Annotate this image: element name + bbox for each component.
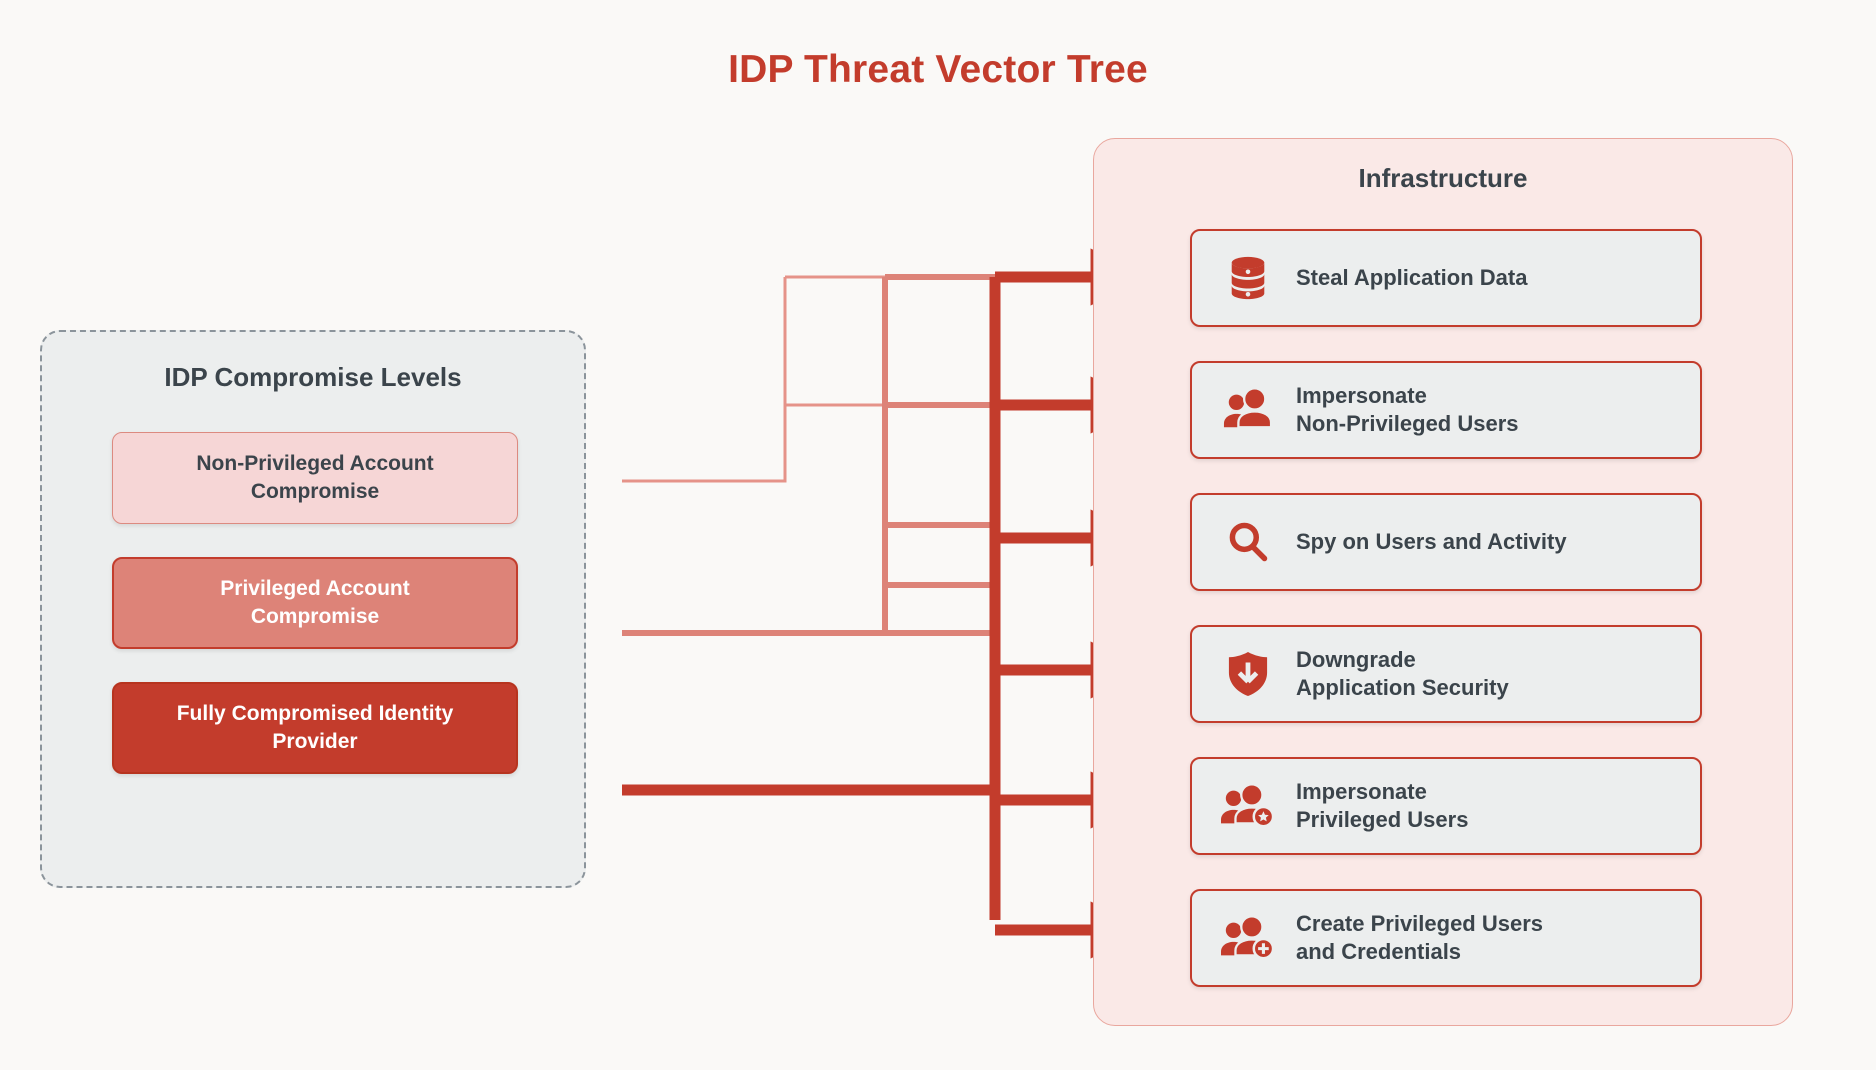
threat-card-steal-application-data[interactable]: Steal Application Data (1190, 229, 1702, 327)
level-card-label: Non-Privileged Account Compromise (196, 450, 433, 505)
idp-compromise-levels-panel: IDP Compromise Levels Non-Privileged Acc… (40, 330, 586, 888)
infrastructure-panel-title: Infrastructure (1094, 163, 1792, 194)
level-card-privileged-account-compromise[interactable]: Privileged Account Compromise (112, 557, 518, 649)
users-icon (1216, 378, 1280, 442)
threat-card-label: Spy on Users and Activity (1296, 528, 1567, 556)
threat-card-downgrade-application-security[interactable]: Downgrade Application Security (1190, 625, 1702, 723)
connector-privileged (622, 277, 995, 633)
shield-down-arrow-icon (1216, 642, 1280, 706)
threat-card-impersonate-privileged-users[interactable]: Impersonate Privileged Users (1190, 757, 1702, 855)
users-star-badge-icon (1216, 774, 1280, 838)
threat-card-label: Impersonate Privileged Users (1296, 778, 1468, 834)
level-card-fully-compromised-identity-provider[interactable]: Fully Compromised Identity Provider (112, 682, 518, 774)
threat-card-label: Create Privileged Users and Credentials (1296, 910, 1543, 966)
threat-card-label: Impersonate Non-Privileged Users (1296, 382, 1519, 438)
threat-card-impersonate-non-privileged-users[interactable]: Impersonate Non-Privileged Users (1190, 361, 1702, 459)
level-card-label: Fully Compromised Identity Provider (177, 700, 454, 755)
levels-panel-title: IDP Compromise Levels (42, 362, 584, 393)
level-card-label: Privileged Account Compromise (220, 575, 409, 630)
connector-fully-compromised (622, 277, 995, 920)
threat-card-label: Downgrade Application Security (1296, 646, 1509, 702)
infrastructure-panel: Infrastructure Steal Application Data (1093, 138, 1793, 1026)
connector-non-privileged (622, 277, 995, 481)
level-card-non-privileged-account-compromise[interactable]: Non-Privileged Account Compromise (112, 432, 518, 524)
database-icon (1216, 246, 1280, 310)
users-plus-badge-icon (1216, 906, 1280, 970)
threat-card-label: Steal Application Data (1296, 264, 1527, 292)
threat-card-spy-on-users-and-activity[interactable]: Spy on Users and Activity (1190, 493, 1702, 591)
magnifier-icon (1216, 510, 1280, 574)
page-title: IDP Threat Vector Tree (0, 48, 1876, 92)
threat-card-create-privileged-users-and-credentials[interactable]: Create Privileged Users and Credentials (1190, 889, 1702, 987)
